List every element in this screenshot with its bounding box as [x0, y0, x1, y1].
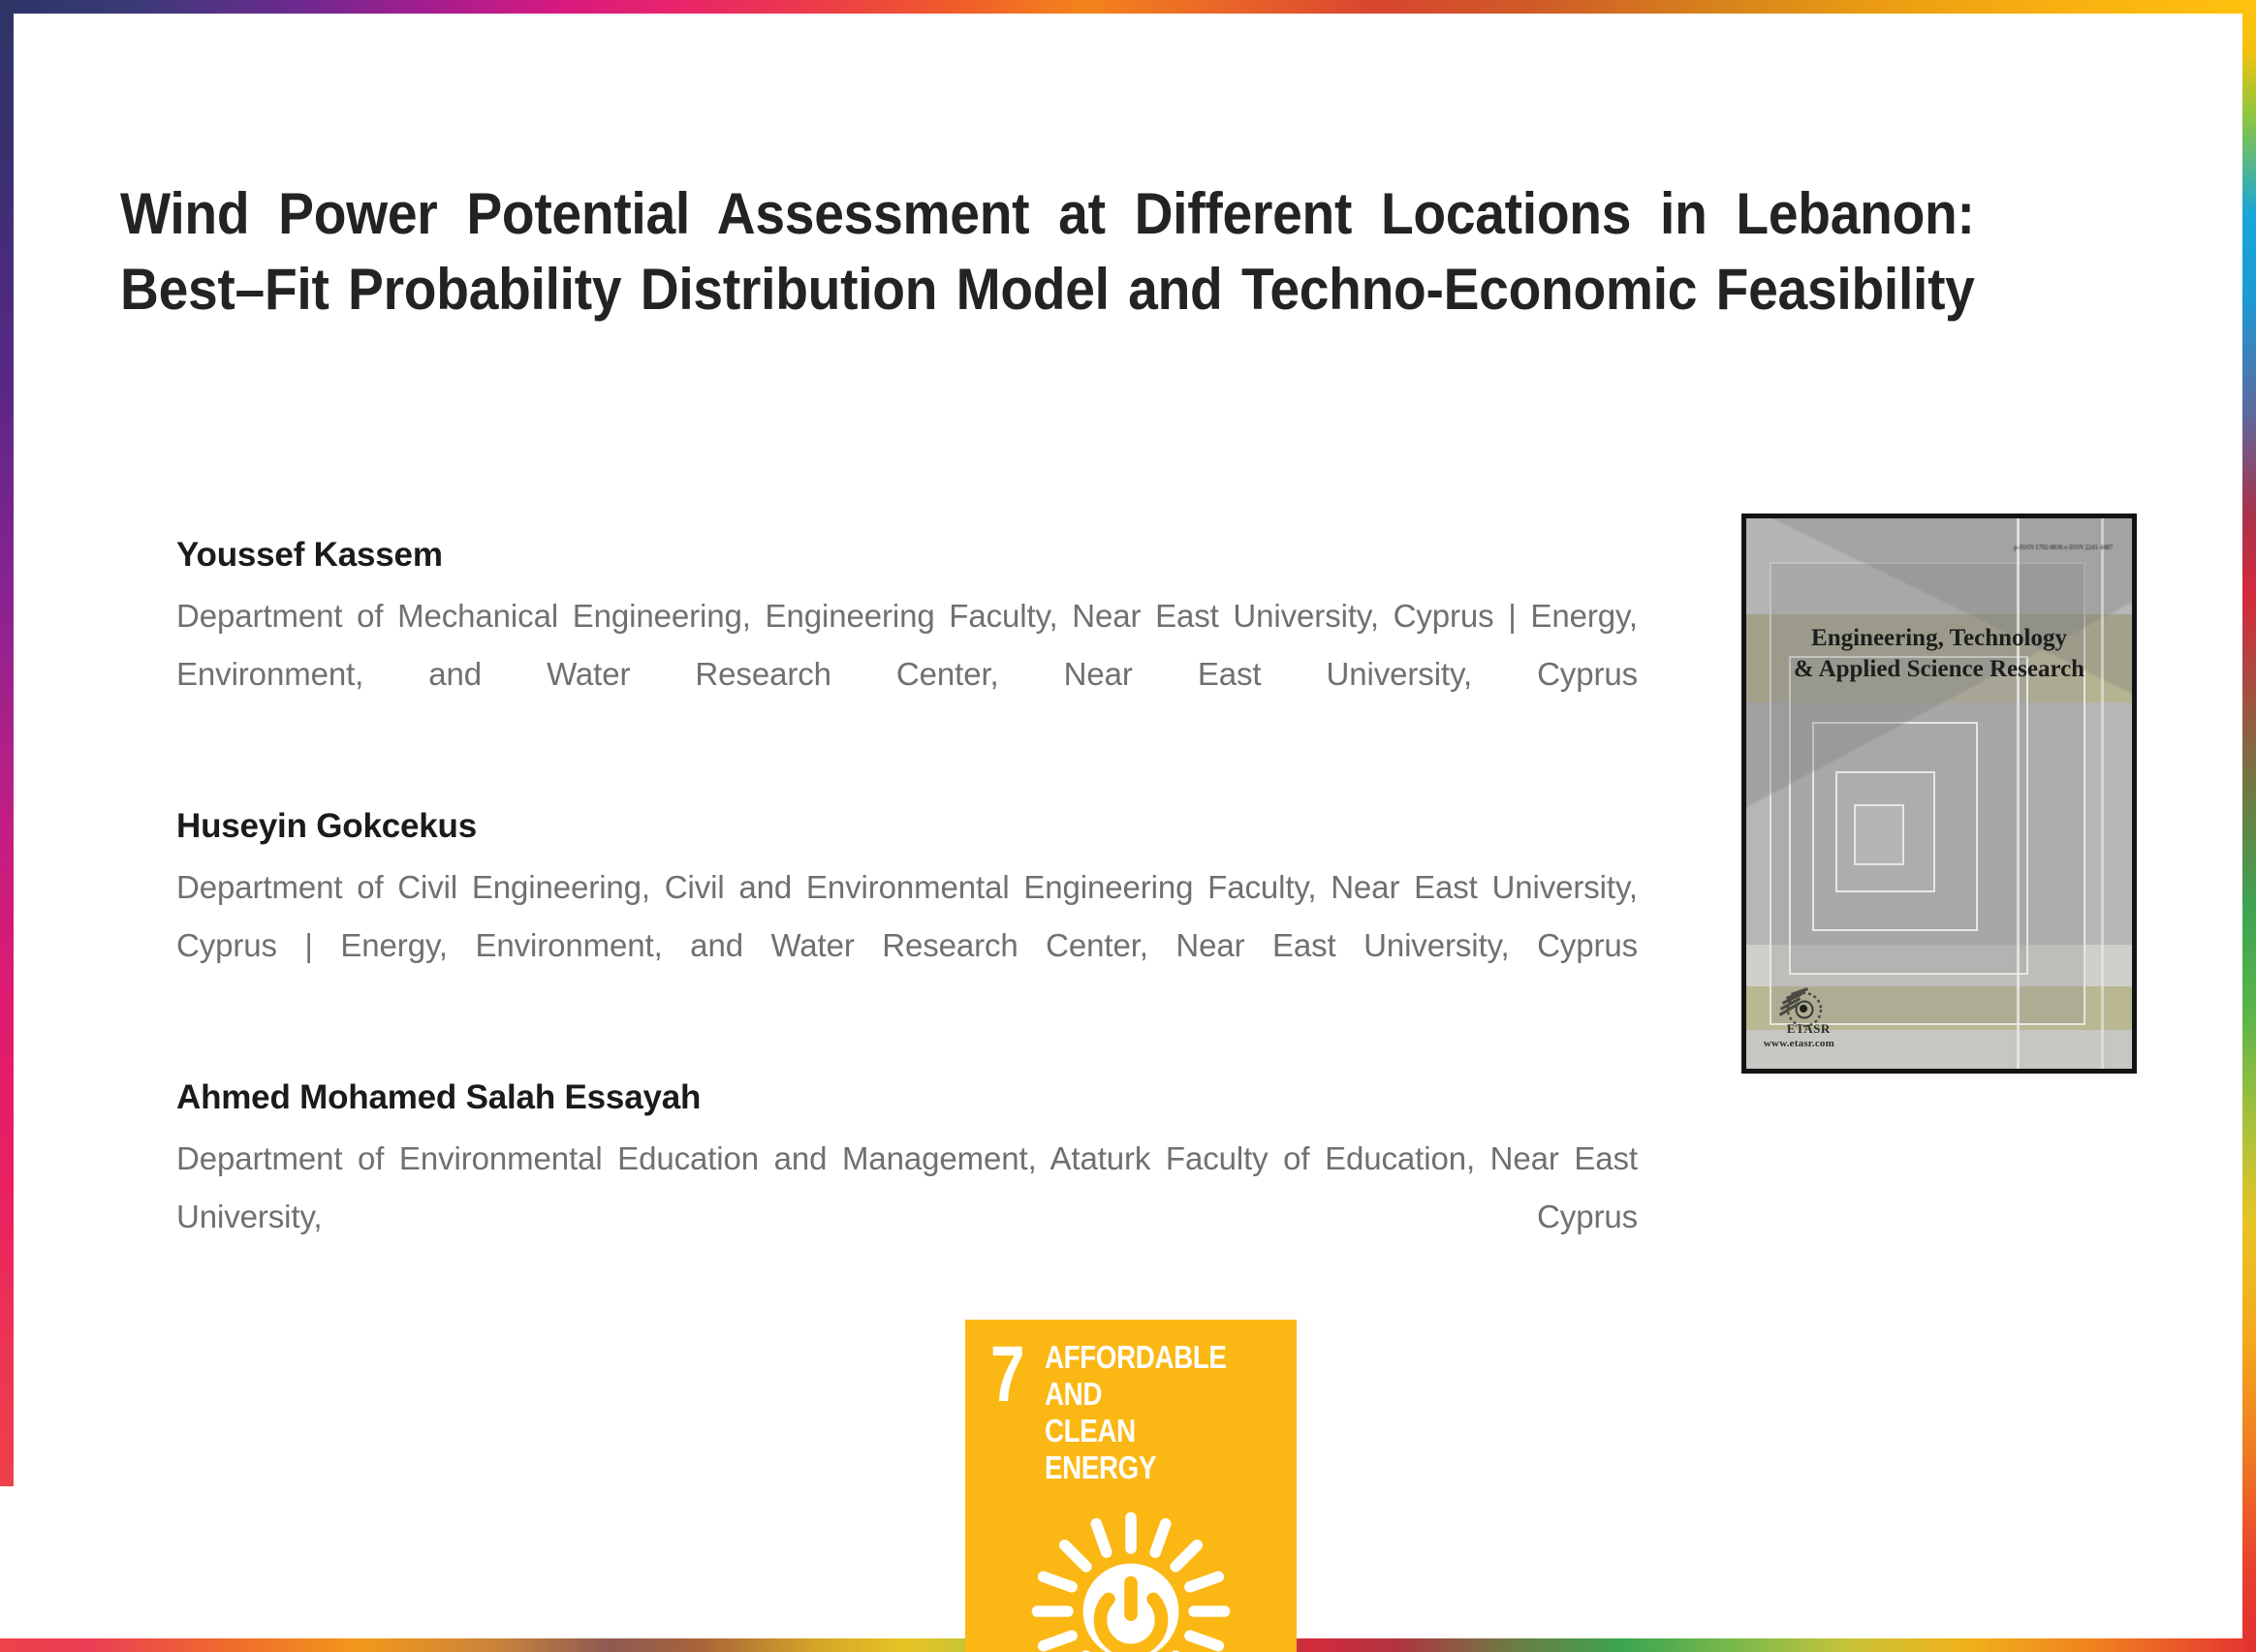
- poster-card: Wind Power Potential Assessment at Diffe…: [0, 0, 2256, 1652]
- author-affiliation: Department of Civil Engineering, Civil a…: [176, 858, 1638, 1033]
- sdg-label: AFFORDABLE AND CLEAN ENERGY: [1045, 1339, 1248, 1486]
- sdg-label-line-1: AFFORDABLE AND: [1045, 1339, 1248, 1413]
- cover-logo-block: ETASR www.etasr.com: [1762, 981, 1939, 1049]
- cover-vertical-line: [2017, 518, 2020, 1069]
- author-name: Youssef Kassem: [176, 533, 1638, 577]
- journal-cover-image: p-ISSN 1792-8036 e-ISSN 2241-4487 Engine…: [1741, 514, 2137, 1074]
- sdg-number: 7: [990, 1335, 1023, 1415]
- gear-icon: [1775, 981, 1830, 1035]
- frame-border-top: [0, 0, 2256, 14]
- sdg-label-line-2: CLEAN ENERGY: [1045, 1413, 1248, 1486]
- author-affiliation: Department of Mechanical Engineering, En…: [176, 587, 1638, 762]
- cover-vertical-line: [2101, 518, 2104, 1069]
- author-name: Ahmed Mohamed Salah Essayah: [176, 1075, 1638, 1120]
- author-entry: Huseyin Gokcekus Department of Civil Eng…: [176, 804, 1638, 1033]
- cover-title-line-2: & Applied Science Research: [1773, 654, 2105, 685]
- cover-title-line-1: Engineering, Technology: [1773, 623, 2105, 654]
- frame-border-left: [0, 0, 14, 1486]
- paper-title: Wind Power Potential Assessment at Diffe…: [120, 176, 1975, 403]
- author-entry: Youssef Kassem Department of Mechanical …: [176, 533, 1638, 762]
- cover-journal-title: Engineering, Technology & Applied Scienc…: [1773, 623, 2105, 685]
- cover-website-url: www.etasr.com: [1764, 1038, 1939, 1049]
- author-affiliation: Department of Environmental Education an…: [176, 1130, 1638, 1304]
- cover-issn-text: p-ISSN 1792-8036 e-ISSN 2241-4487: [2014, 544, 2113, 552]
- author-list: Youssef Kassem Department of Mechanical …: [176, 533, 1638, 1304]
- author-entry: Ahmed Mohamed Salah Essayah Department o…: [176, 1075, 1638, 1304]
- author-name: Huseyin Gokcekus: [176, 804, 1638, 849]
- sun-power-icon: [1029, 1510, 1233, 1652]
- frame-border-right: [2242, 0, 2256, 1652]
- sdg-badge-affordable-clean-energy: 7 AFFORDABLE AND CLEAN ENERGY: [965, 1320, 1297, 1652]
